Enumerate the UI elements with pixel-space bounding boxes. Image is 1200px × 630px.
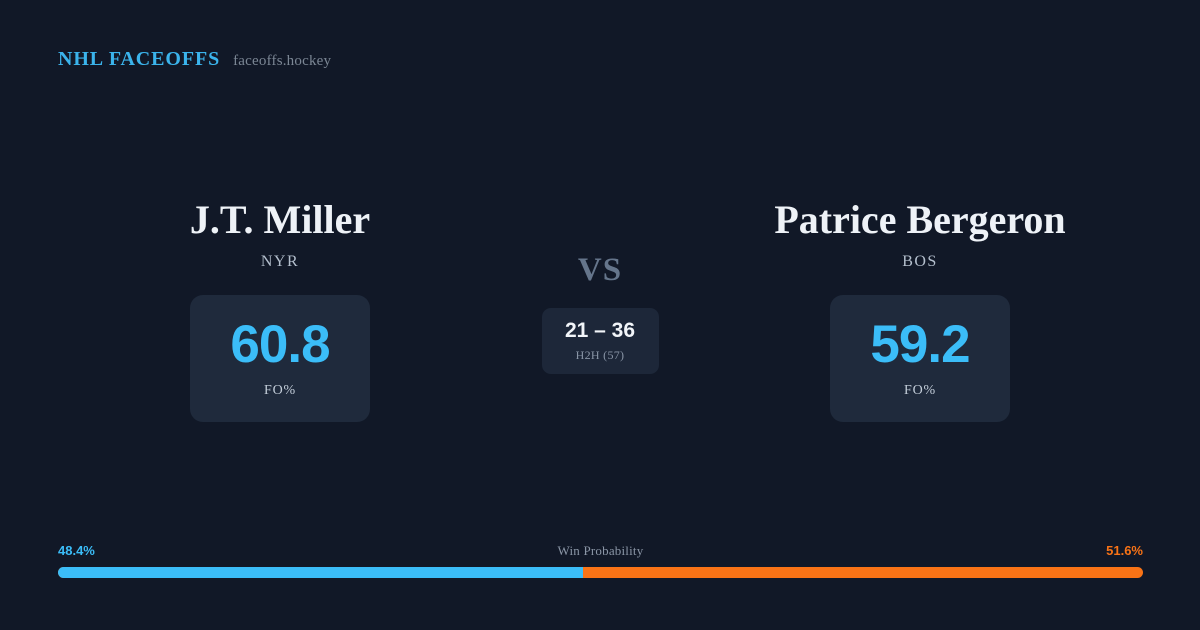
player-name-right: Patrice Bergeron	[774, 196, 1065, 243]
player-card-left[interactable]: J.T. Miller NYR 60.8 FO%	[60, 196, 500, 422]
win-probability-bar	[58, 567, 1143, 578]
player-card-right[interactable]: Patrice Bergeron BOS 59.2 FO%	[700, 196, 1140, 422]
player-team-left: NYR	[261, 253, 299, 271]
center-versus-block: VS 21 – 36 H2H (57)	[500, 196, 700, 374]
matchup-row: J.T. Miller NYR 60.8 FO% VS 21 – 36 H2H …	[0, 196, 1200, 422]
stat-label-left: FO%	[264, 383, 296, 399]
head-to-head-box[interactable]: 21 – 36 H2H (57)	[542, 308, 659, 374]
stat-card-right: 59.2 FO%	[830, 295, 1010, 422]
win-probability-bar-left-fill	[58, 567, 583, 578]
stat-label-right: FO%	[904, 383, 936, 399]
versus-label: VS	[578, 252, 622, 289]
stat-card-left: 60.8 FO%	[190, 295, 370, 422]
win-probability-section: 48.4% Win Probability 51.6%	[58, 541, 1143, 578]
win-probability-right-pct: 51.6%	[1106, 541, 1143, 560]
win-probability-labels: 48.4% Win Probability 51.6%	[58, 541, 1143, 560]
win-probability-title: Win Probability	[58, 541, 1143, 560]
head-to-head-record: 21 – 36	[565, 320, 635, 341]
head-to-head-label: H2H (57)	[576, 348, 625, 363]
brand-domain: faceoffs.hockey	[233, 53, 331, 70]
brand-header: NHL FACEOFFS faceoffs.hockey	[58, 48, 331, 71]
player-name-left: J.T. Miller	[190, 196, 370, 243]
brand-title: NHL FACEOFFS	[58, 48, 220, 71]
player-team-right: BOS	[902, 253, 938, 271]
stat-value-left: 60.8	[230, 318, 329, 371]
stat-value-right: 59.2	[870, 318, 969, 371]
